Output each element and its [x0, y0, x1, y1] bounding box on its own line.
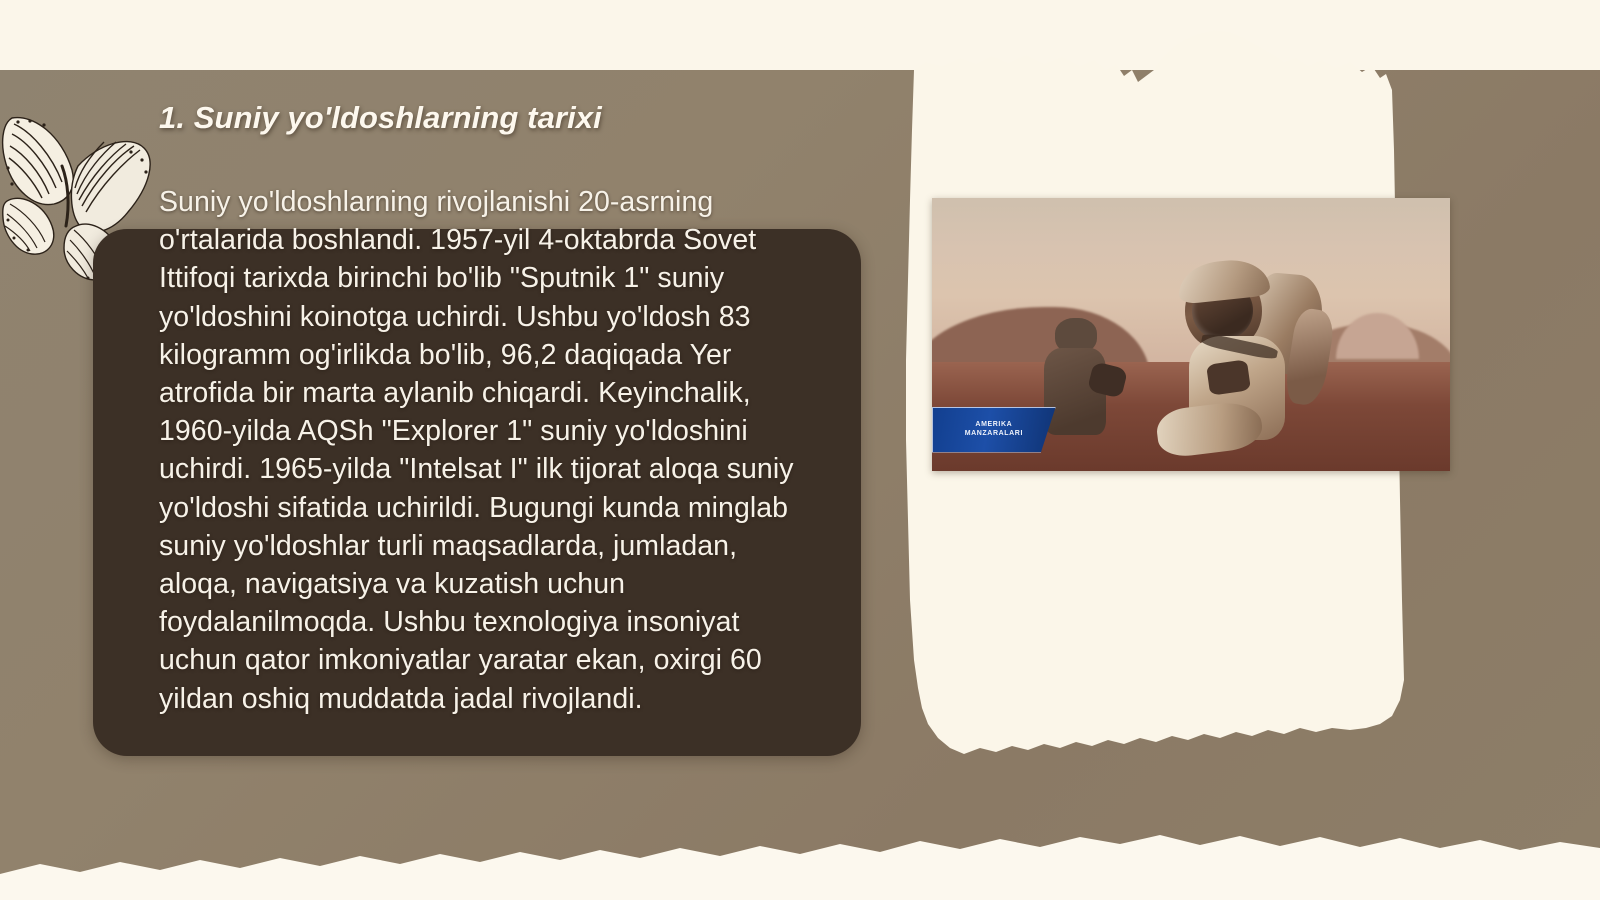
astronaut-lower-arm [1155, 399, 1265, 459]
astronaut-chest-unit [1206, 359, 1251, 395]
body-paragraph: Suniy yo'ldoshlarning rivojlanishi 20-as… [159, 183, 819, 718]
astronaut-foreground-figure [1139, 253, 1367, 471]
banner-line-1: AMERIKA [975, 421, 1012, 430]
astronaut-photo: AMERIKA MANZARALARI [932, 198, 1450, 471]
slide-canvas: AMERIKA MANZARALARI 1. Suniy yo'ldoshlar… [0, 0, 1600, 900]
banner-line-2: MANZARALARI [965, 430, 1023, 439]
astronaut-background-figure [1036, 318, 1124, 455]
page-title: 1. Suniy yo'ldoshlarning tarixi [159, 100, 602, 136]
broadcast-banner: AMERIKA MANZARALARI [932, 407, 1056, 453]
